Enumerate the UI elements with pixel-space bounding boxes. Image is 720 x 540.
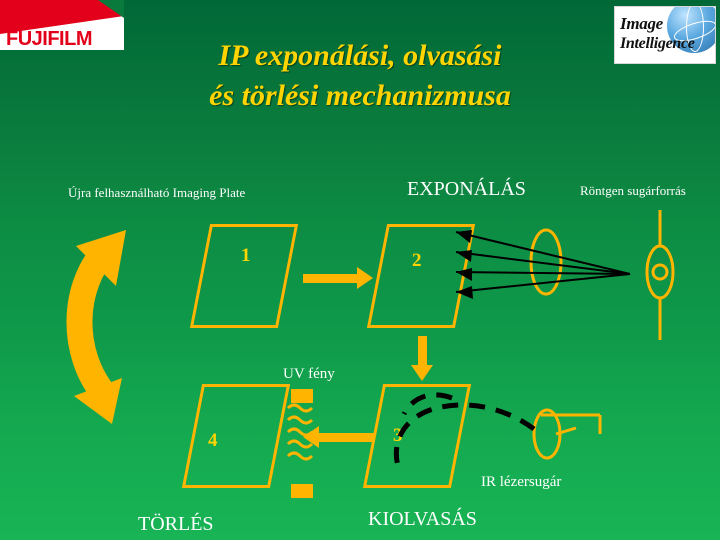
fujifilm-logo: FUJIFILM <box>0 0 124 50</box>
plate-3-number: 3 <box>393 425 403 447</box>
xray-source-icon <box>647 210 673 340</box>
label-uv-light: UV fény <box>283 366 335 383</box>
plate-step-1 <box>190 224 298 328</box>
arrow-head-icon <box>411 365 433 381</box>
arrow-plate3-to-plate4 <box>318 433 374 442</box>
page-title-line1: IP exponálási, olvasási <box>110 36 610 76</box>
slide-canvas: FUJIFILM Image Intelligence IP exponálás… <box>0 0 720 540</box>
xray-beam-lines <box>456 230 630 299</box>
label-reusable-plate: Újra felhasználható Imaging Plate <box>68 185 245 201</box>
arrow-head-icon <box>357 267 373 289</box>
image-intelligence-line1: Image <box>620 14 663 34</box>
label-erase: TÖRLÉS <box>138 513 214 536</box>
plate-step-3 <box>363 384 471 488</box>
arrow-plate1-to-plate2 <box>303 274 358 283</box>
plate-2-number: 2 <box>412 250 422 272</box>
laser-scanner-icon <box>534 410 600 458</box>
plate-step-4 <box>182 384 290 488</box>
image-intelligence-line2: Intelligence <box>620 35 695 53</box>
plate-4-number: 4 <box>208 430 218 452</box>
page-title-line2: és törlési mechanizmusa <box>110 76 610 116</box>
label-xray-source: Röntgen sugárforrás <box>580 183 686 199</box>
image-intelligence-logo: Image Intelligence <box>614 6 716 64</box>
recycle-arrow-icon <box>74 230 126 424</box>
arrow-plate2-to-plate3 <box>418 336 427 366</box>
label-readout: KIOLVASÁS <box>368 508 477 531</box>
label-ir-laser: IR lézersugár <box>481 474 561 491</box>
plate-step-2 <box>367 224 475 328</box>
xray-beam-lens-icon <box>531 230 561 294</box>
page-title: IP exponálási, olvasási és törlési mecha… <box>110 36 610 116</box>
arrow-head-icon <box>303 426 319 448</box>
fujifilm-logo-text: FUJIFILM <box>6 28 92 50</box>
label-exposure: EXPONÁLÁS <box>407 178 526 201</box>
plate-1-number: 1 <box>241 245 251 267</box>
